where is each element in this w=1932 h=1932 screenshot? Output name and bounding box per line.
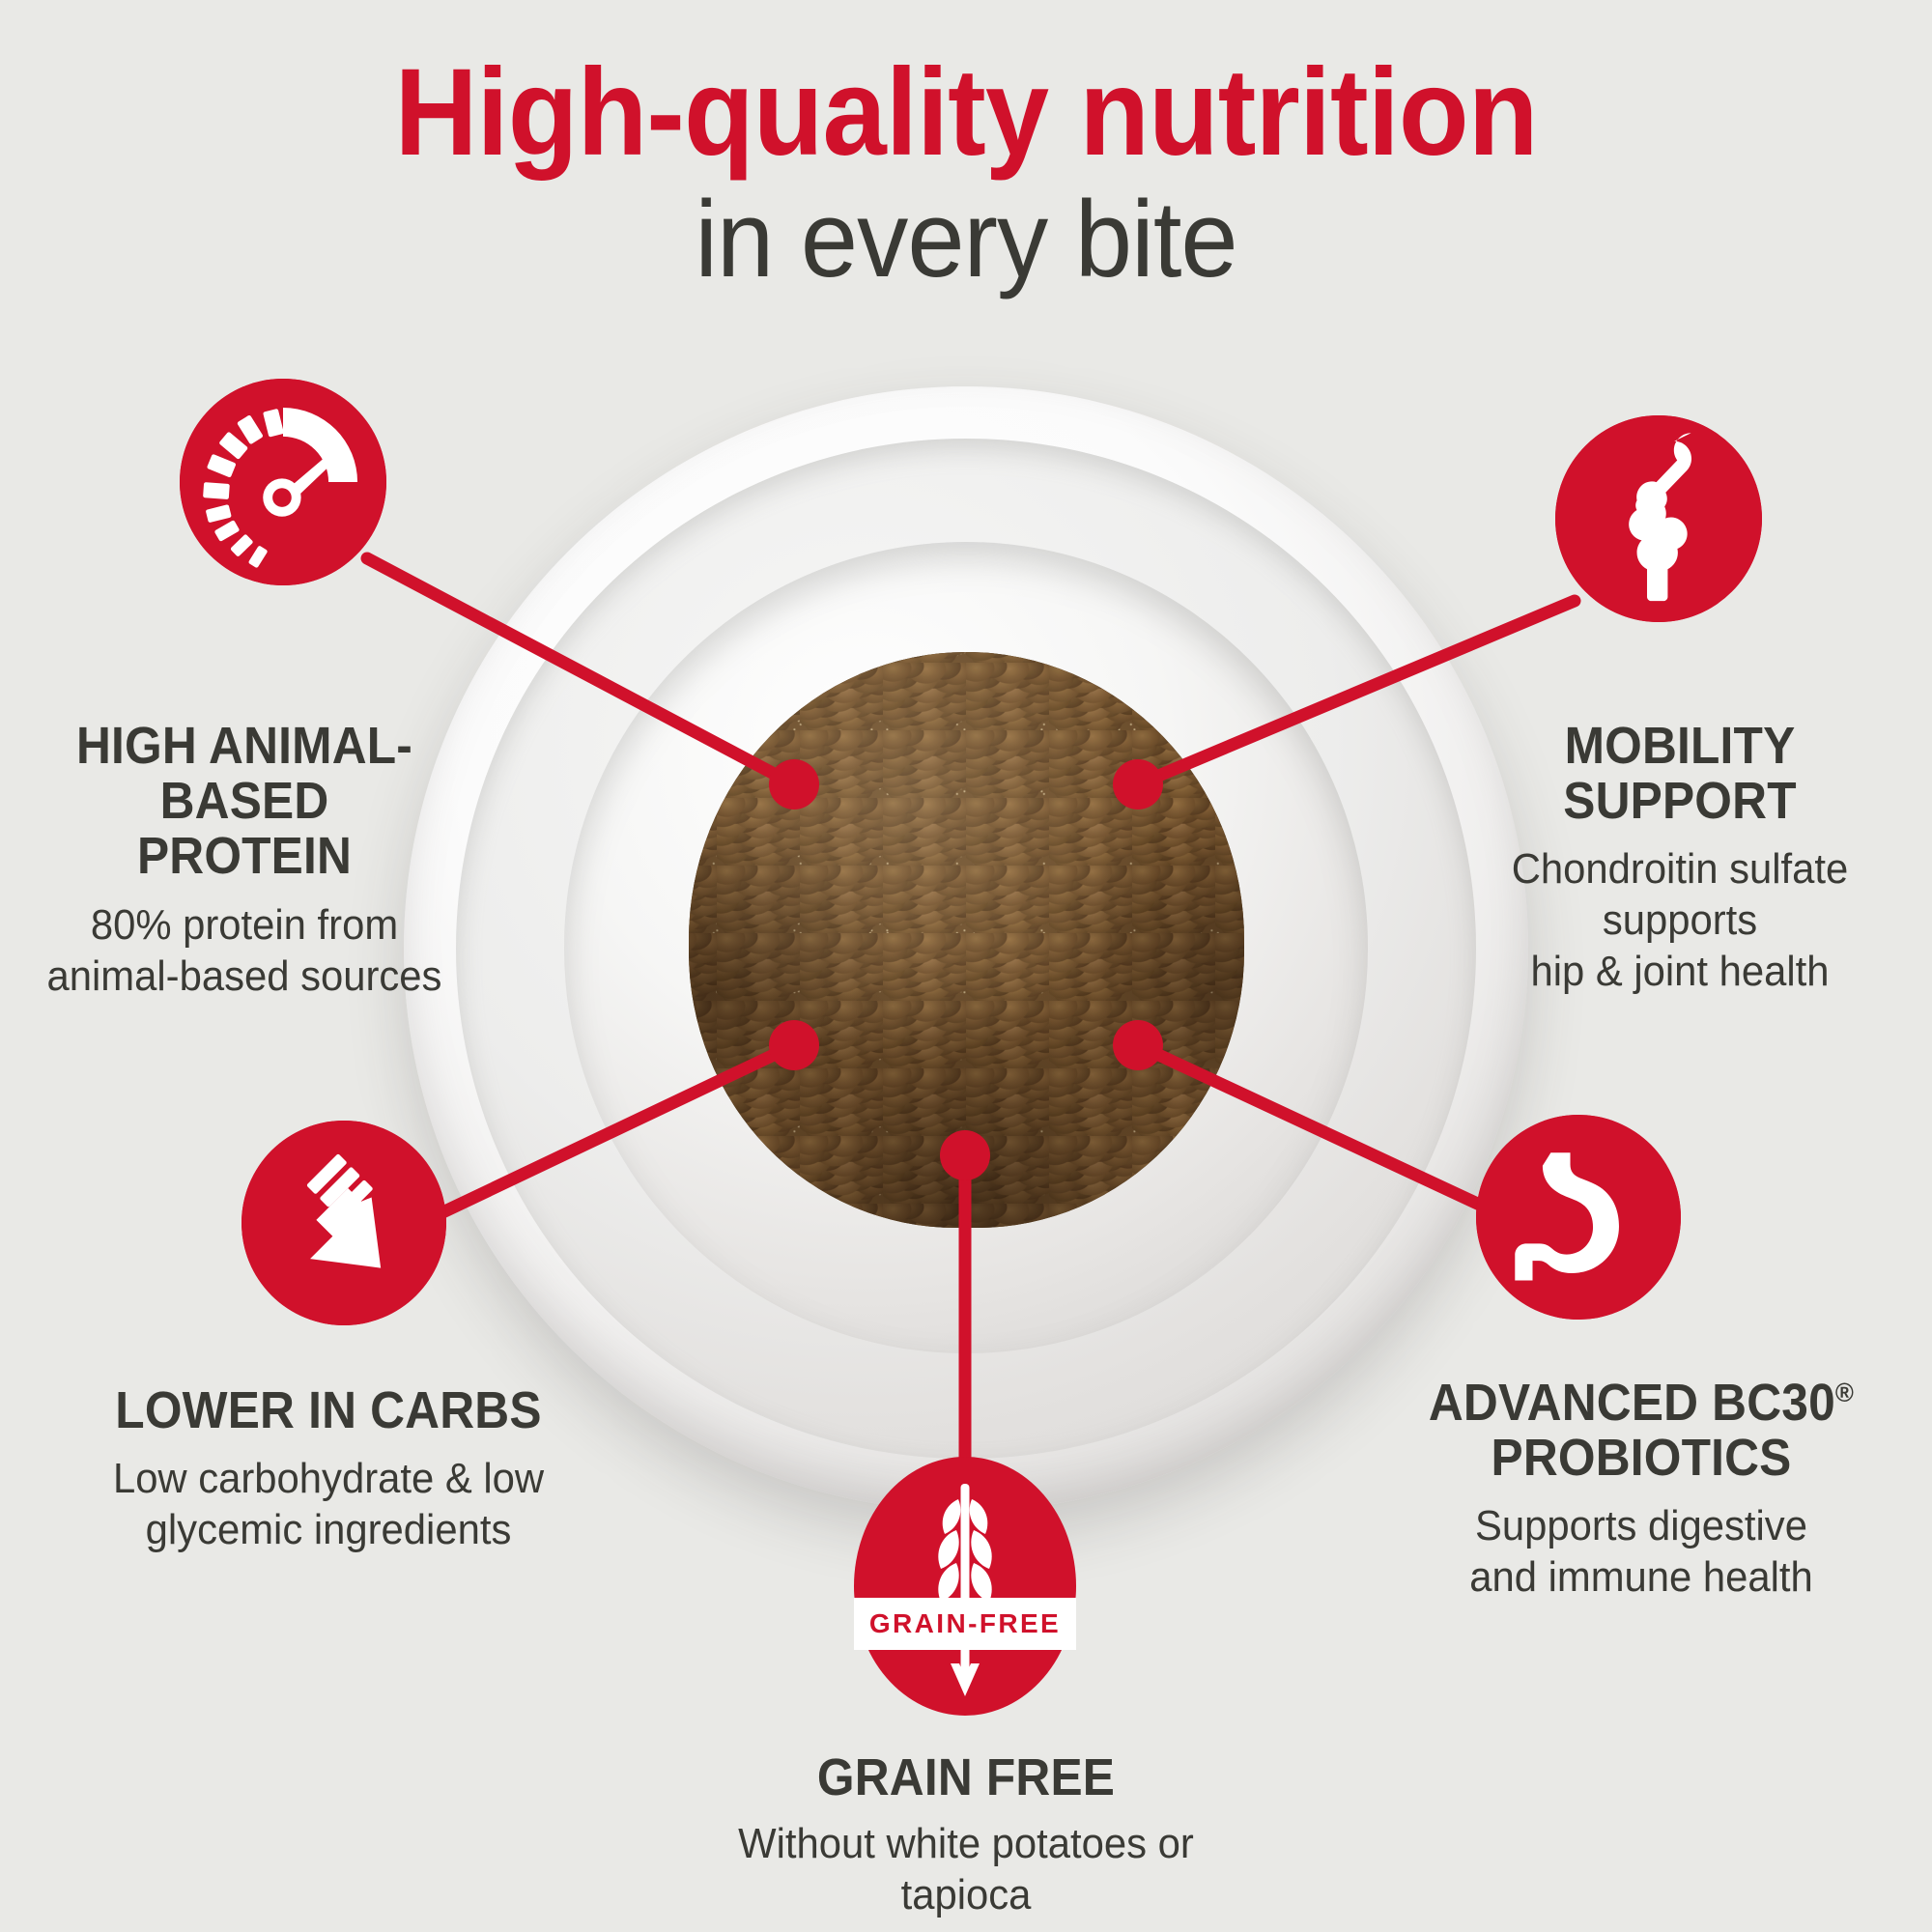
headline-secondary: in every bite: [48, 183, 1884, 297]
headline-block: High-quality nutrition in every bite: [0, 50, 1932, 296]
infographic-canvas: High-quality nutrition in every bite: [0, 0, 1932, 1932]
food-bowl: [404, 386, 1528, 1511]
down-arrow-icon: [241, 1121, 446, 1325]
feature-description: Without white potatoes or tapioca: [691, 1819, 1241, 1921]
feature-high-animal-based-protein: HIGH ANIMAL-BASED PROTEIN 80% protein fr…: [0, 719, 489, 1002]
feature-lower-in-carbs: LOWER IN CARBS Low carbohydrate & low gl…: [58, 1383, 599, 1556]
registered-trademark-mark: ®: [1835, 1378, 1854, 1407]
feature-title: LOWER IN CARBS: [79, 1383, 577, 1438]
bowl-inner-basin: [564, 542, 1369, 1352]
feature-title: ADVANCED BC30®PROBIOTICS: [1374, 1376, 1909, 1486]
feature-mobility-support: MOBILITY SUPPORT Chondroitin sulfate sup…: [1428, 719, 1932, 998]
feature-description: Supports digestive and immune health: [1365, 1501, 1918, 1604]
feature-description: Low carbohydrate & low glycemic ingredie…: [71, 1454, 585, 1556]
kibble-pile: [689, 652, 1244, 1228]
feature-title: GRAIN FREE: [699, 1750, 1233, 1805]
feature-grain-free: GRAIN FREE Without white potatoes or tap…: [676, 1750, 1256, 1921]
wheat-grain-free-badge-icon: GRAIN-FREE: [854, 1457, 1076, 1716]
stomach-icon: [1476, 1115, 1681, 1320]
headline-primary: High-quality nutrition: [68, 50, 1864, 177]
feature-title: HIGH ANIMAL-BASED PROTEIN: [19, 719, 469, 885]
feature-description: Chondroitin sulfate supports hip & joint…: [1440, 844, 1919, 997]
feature-advanced-bc30-probiotics: ADVANCED BC30®PROBIOTICS Supports digest…: [1350, 1376, 1932, 1604]
joint-bone-icon: [1555, 415, 1762, 622]
feature-title-second: PROBIOTICS: [1492, 1429, 1792, 1487]
bowl-rim: [456, 439, 1477, 1460]
feature-title-main: ADVANCED BC30: [1429, 1374, 1835, 1432]
gauge-icon: [180, 379, 386, 585]
feature-title: MOBILITY SUPPORT: [1448, 719, 1912, 829]
feature-description: 80% protein from animal-based sources: [13, 900, 477, 1003]
grain-free-badge-label: GRAIN-FREE: [869, 1608, 1061, 1638]
